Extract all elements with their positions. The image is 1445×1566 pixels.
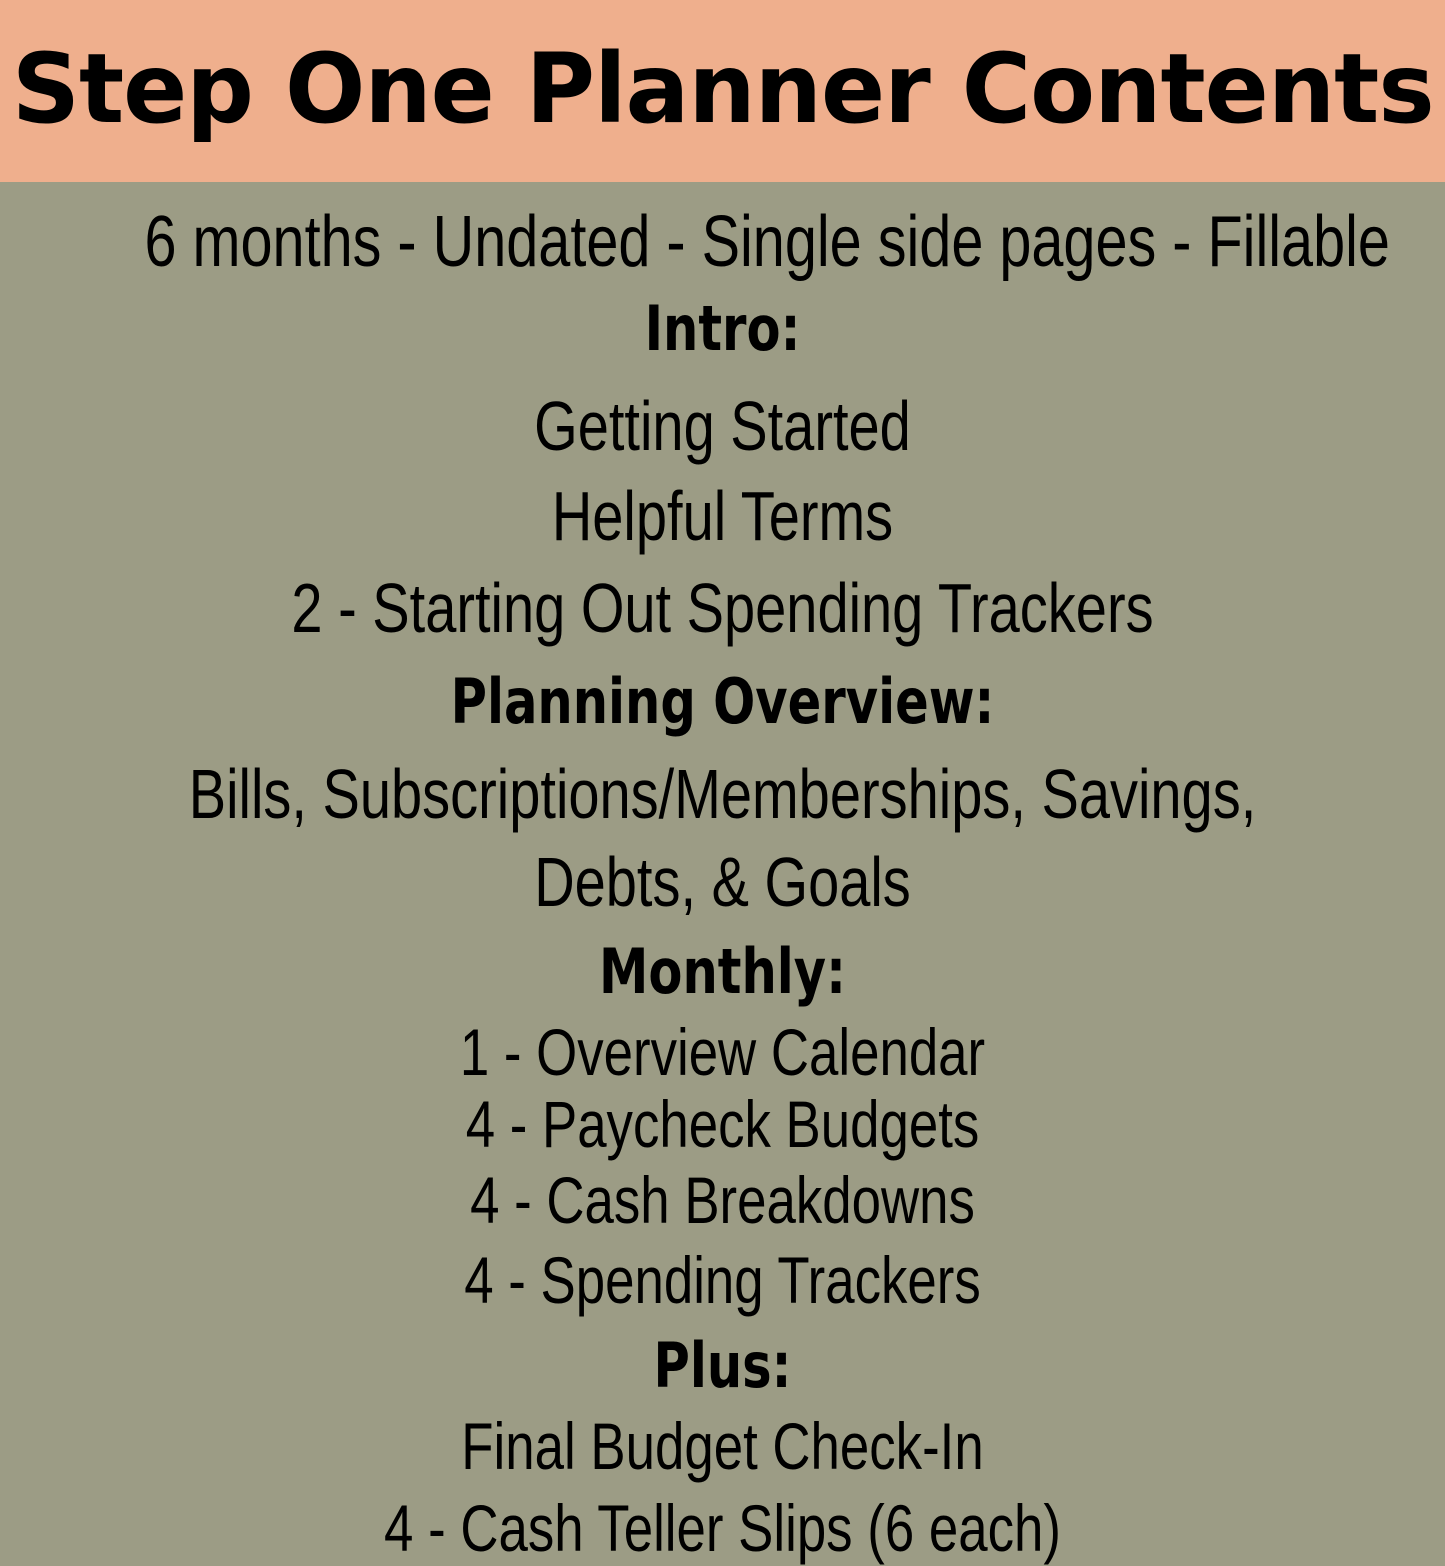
list-item: 2 - Starting Out Spending Trackers [145, 560, 1301, 656]
section-heading-intro: Intro: [145, 286, 1301, 372]
list-item: Final Budget Check-In [145, 1408, 1301, 1484]
contents-subtitle: 6 months - Undated - Single side pages -… [145, 196, 1301, 288]
list-item: 4 - Cash Teller Slips (6 each) [145, 1490, 1301, 1566]
list-item: 4 - Paycheck Budgets [145, 1088, 1301, 1160]
section-heading-monthly: Monthly: [145, 928, 1301, 1016]
page-title: Step One Planner Contents [12, 41, 1434, 137]
list-item: Bills, Subscriptions/Memberships, Saving… [145, 748, 1301, 840]
header-band: Step One Planner Contents [0, 0, 1445, 182]
list-item: Debts, & Goals [145, 836, 1301, 928]
list-item: Helpful Terms [145, 470, 1301, 562]
list-item: 4 - Spending Trackers [145, 1244, 1301, 1316]
section-heading-plus: Plus: [145, 1322, 1301, 1410]
planner-contents-poster: Step One Planner Contents 6 months - Und… [0, 0, 1445, 1445]
contents-list: 6 months - Undated - Single side pages -… [0, 182, 1445, 1566]
list-item: 4 - Cash Breakdowns [145, 1164, 1301, 1236]
list-item: 1 - Overview Calendar [145, 1016, 1301, 1088]
list-item: Getting Started [145, 378, 1301, 474]
section-heading-planning-overview: Planning Overview: [145, 658, 1301, 746]
